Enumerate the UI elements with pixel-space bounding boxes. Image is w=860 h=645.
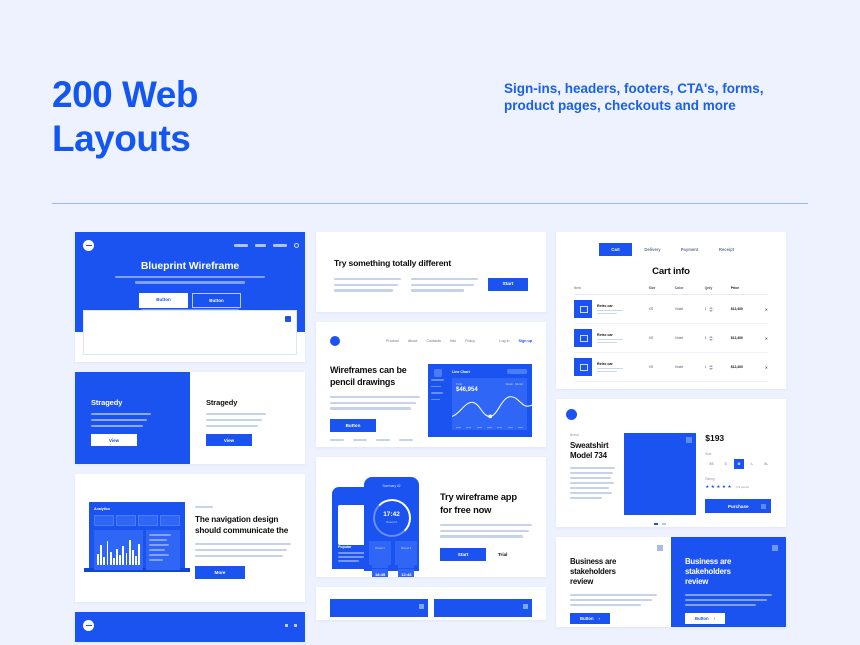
column-item: Item (574, 286, 649, 290)
cell-price: $12,400 (731, 336, 757, 340)
product-desc (597, 339, 623, 344)
product-name: Retro car (597, 333, 623, 337)
wireframes-title: Wireframes can be pencil drawings (330, 364, 420, 388)
qty-value: 1 (705, 307, 707, 311)
login-link[interactable]: Log in (499, 339, 509, 343)
chart-axis (456, 427, 523, 429)
phone-stat-card-1: Round 1 18:45 (369, 541, 391, 565)
dashboard-topbar: Line Chart (452, 369, 527, 374)
stakeholders-panel-blue: Business are stakeholders review Button› (671, 537, 786, 627)
logo-icon (83, 240, 94, 251)
navbar-auth[interactable]: Log in Sign up (499, 339, 532, 343)
stakeholders-left-title: Business are stakeholders review (570, 557, 657, 587)
app-trial-button[interactable]: Trial (498, 552, 507, 557)
page-title-line2: Layouts (52, 117, 198, 161)
chevron-up-icon (709, 365, 713, 367)
size-option-s[interactable]: S (721, 459, 731, 469)
table-row[interactable]: Retro car XS Violet 1 $12,400 ✕ (574, 295, 768, 324)
quote-icon (772, 545, 778, 551)
carousel-dot-active[interactable] (654, 523, 658, 525)
try-start-button[interactable]: Start (488, 278, 528, 291)
product-thumbnail (574, 329, 592, 347)
stragedy-left-button[interactable]: View (91, 434, 137, 446)
product-purchase-panel: $193 Size XS S M L XL Rating ★★★ ★★ (705, 433, 772, 515)
panel-badge-icon (285, 316, 291, 322)
cart-item-cell: Retro car (574, 358, 649, 376)
phone-timer: 17:42 (364, 511, 419, 518)
stakeholders-right-text (685, 594, 772, 606)
cell-color: Violet (675, 307, 705, 311)
phone-stat-card-2: Round 2 12:43 (395, 541, 417, 565)
cell-size: XS (649, 365, 675, 369)
preview-card-cart-info[interactable]: Cart Delivery Payment Receipt Cart info … (556, 232, 786, 389)
stragedy-right-title: Stragedy (206, 398, 289, 407)
hero-secondary-button[interactable]: Button (192, 293, 241, 308)
qty-value: 1 (705, 365, 707, 369)
phone-mockups: Popular Summary #2 17:42 Round 3 Round 1 (330, 471, 430, 571)
preview-card-wireframes-pencil[interactable]: Product About Contacts Info Policy Log i… (316, 322, 546, 447)
product-description: Brand Sweatshirt Model 734 (570, 433, 615, 515)
nav-item-product[interactable]: Product (386, 339, 399, 343)
chart-amount: $46,954 (456, 387, 523, 393)
product-body: Brand Sweatshirt Model 734 (570, 433, 772, 515)
size-option-xs[interactable]: XS (705, 459, 717, 469)
chart-panel: Total $46,954 Week · Month (452, 378, 527, 430)
poster-page: 200 Web Layouts Sign-ins, headers, foote… (0, 0, 860, 645)
avatar (434, 369, 442, 377)
menu-dot-icon[interactable] (285, 624, 288, 627)
qty-value: 1 (705, 336, 707, 340)
wireframes-footer-links[interactable] (330, 439, 413, 441)
footer-link-instagram[interactable] (330, 439, 344, 441)
navbar-links[interactable]: Product About Contacts Info Policy (386, 339, 475, 343)
chevron-down-icon (709, 368, 713, 370)
stat-tile (94, 515, 114, 526)
size-option-m[interactable]: M (734, 459, 745, 469)
preview-card-wireframe-app[interactable]: Popular Summary #2 17:42 Round 3 Round 1 (316, 457, 546, 577)
page-title: 200 Web Layouts (52, 73, 198, 161)
wireframes-button[interactable]: Button (330, 419, 376, 432)
dashboard-screenshot: Line Chart Total $46,954 Week · Month (428, 364, 532, 437)
stat-tile (116, 515, 136, 526)
product-desc (597, 368, 623, 373)
try-different-title: Try something totally different (334, 258, 528, 268)
header-actions[interactable] (285, 624, 297, 627)
column-qnty: Qnty (705, 286, 731, 290)
cell-size: XS (649, 307, 675, 311)
product-brand: Brand (570, 433, 615, 437)
app-copy: Try wireframe app for free now Start Tri… (440, 471, 532, 577)
product-title: Sweatshirt Model 734 (570, 441, 615, 461)
hero-headline: Blueprint Wireframe (75, 260, 305, 272)
table-row[interactable]: Retro car XS Violet 1 $12,400 ✕ (574, 353, 768, 382)
line-chart-svg (452, 394, 546, 422)
stat-label: Round 1 (372, 544, 388, 568)
cell-price: $12,400 (731, 365, 757, 369)
star-icon: ★ (727, 484, 731, 490)
product-price: $193 (705, 433, 772, 443)
stragedy-left-title: Stragedy (91, 398, 174, 407)
product-thumbnail (574, 300, 592, 318)
dashboard-side-list (146, 530, 180, 570)
hero-nav[interactable] (234, 243, 299, 248)
product-name: Retro car (597, 304, 623, 308)
star-icon: ★ (722, 484, 726, 490)
page-title-line1: 200 Web (52, 73, 198, 117)
menu-dot-icon[interactable] (294, 624, 297, 627)
nav-item-about[interactable]: About (408, 339, 418, 343)
nav-item-contacts[interactable]: Contacts (426, 339, 441, 343)
app-paragraph (440, 524, 532, 538)
logo-icon (83, 620, 94, 631)
cart-table-header: Item Size Color Qnty Price (574, 286, 768, 295)
app-start-button[interactable]: Start (440, 548, 486, 561)
gallery-column-1: Blueprint Wireframe Button Button (75, 232, 305, 645)
stepper-arrows[interactable] (709, 336, 713, 341)
header-divider (52, 203, 808, 204)
chart-range-label: Week · Month (506, 382, 523, 386)
stragedy-panel-white: Stragedy View (190, 372, 305, 464)
preview-card-try-different[interactable]: Try something totally different Start (316, 232, 546, 312)
laptop-screen: Analytics (89, 502, 185, 568)
stakeholders-right-button[interactable]: Button› (685, 613, 725, 624)
stakeholders-panel-white: Business are stakeholders review Button› (556, 537, 671, 627)
size-selector[interactable]: XS S M L XL (705, 459, 772, 469)
size-label: Size (705, 452, 772, 456)
bar-chart-bars (97, 537, 140, 565)
product-name: Retro car (597, 362, 623, 366)
stakeholders-left-text (570, 594, 657, 606)
nav-item-product[interactable] (234, 244, 248, 247)
purchase-button[interactable]: Purchase (705, 499, 771, 513)
dashboard-label: Analytics (94, 507, 180, 511)
dashboard-sidebar (428, 364, 447, 437)
try-different-body: Start (334, 278, 528, 295)
phone-front: Summary #2 17:42 Round 3 Round 1 18:45 R (364, 477, 419, 571)
star-icon: ★ (705, 484, 709, 490)
carousel-dots[interactable] (624, 523, 696, 525)
size-option-xl[interactable]: XL (760, 459, 772, 469)
nav-item-about[interactable] (255, 244, 266, 247)
progress-ring (373, 499, 411, 537)
wireframes-navbar[interactable]: Product About Contacts Info Policy Log i… (330, 336, 532, 346)
dashboard-stat-row (94, 515, 180, 526)
logo-icon (330, 336, 340, 346)
arrow-icon: › (599, 616, 600, 621)
navigation-title: The navigation design should communicate… (195, 514, 291, 536)
rating-stars: ★★★ ★★ 4.9 points (705, 484, 772, 490)
preview-card-blueprint-hero[interactable]: Blueprint Wireframe Button Button (75, 232, 305, 362)
page-subtitle-line2: product pages, checkouts and more (504, 97, 814, 114)
stat-tile (138, 515, 158, 526)
phone-stat-cards: Round 1 18:45 Round 2 12:43 (369, 541, 414, 565)
product-thumbnail (574, 358, 592, 376)
dashboard-body (94, 530, 180, 570)
cart-item-cell: Retro car (574, 300, 649, 318)
tab-payment[interactable]: Payment (673, 243, 706, 256)
nav-item-info[interactable]: Info (450, 339, 456, 343)
column-color: Color (675, 286, 705, 290)
badge-icon (419, 604, 424, 609)
dashboard-action-pill[interactable] (507, 369, 527, 374)
purchase-label: Purchase (728, 504, 749, 509)
chevron-up-icon (709, 307, 713, 309)
product-desc (597, 310, 623, 315)
try-paragraph-right (411, 278, 478, 295)
star-icon: ★ (716, 484, 720, 490)
remove-row-button[interactable]: ✕ (757, 336, 768, 341)
quote-icon (657, 545, 663, 551)
search-icon[interactable] (294, 243, 299, 248)
hero-primary-button[interactable]: Button (139, 293, 188, 308)
remove-row-button[interactable]: ✕ (757, 307, 768, 312)
nav-item-contacts[interactable] (273, 244, 287, 247)
chevron-up-icon (709, 336, 713, 338)
tab-receipt[interactable]: Receipt (710, 243, 743, 256)
layout-gallery-grid: Blueprint Wireframe Button Button (0, 232, 860, 645)
quantity-stepper[interactable]: 1 (705, 336, 731, 341)
try-paragraph-left (334, 278, 401, 295)
app-title: Try wireframe app for free now (440, 491, 532, 516)
chevron-down-icon (709, 339, 713, 341)
stepper-arrows[interactable] (709, 307, 713, 312)
gallery-column-3: Cart Delivery Payment Receipt Cart info … (556, 232, 786, 637)
stragedy-left-text (91, 413, 174, 427)
rating-count: 4.9 points (736, 485, 749, 489)
star-icon: ★ (711, 484, 715, 490)
wireframes-paragraph (330, 396, 420, 410)
chart-title: Line Chart (452, 370, 470, 374)
remove-row-button[interactable]: ✕ (757, 365, 768, 370)
bar-chart (94, 530, 143, 570)
preview-card-partial-blocks[interactable] (316, 587, 546, 620)
navigation-more-button[interactable]: More (195, 566, 245, 579)
footer-link-twitter[interactable] (376, 439, 390, 441)
cart-icon (761, 504, 766, 509)
stragedy-panel-blue: Stragedy View (75, 372, 190, 464)
app-button-group[interactable]: Start Trial (440, 548, 532, 561)
content-block-left[interactable] (330, 599, 428, 617)
stragedy-right-button[interactable]: View (206, 434, 252, 446)
preview-card-stragedy[interactable]: Stragedy View Stragedy View (75, 372, 305, 464)
preview-card-partial-header[interactable] (75, 612, 305, 642)
cart-title: Cart info (574, 266, 768, 277)
hero-button-group[interactable]: Button Button (139, 293, 241, 308)
stat-value: 18:45 (372, 569, 388, 577)
preview-card-product-detail[interactable]: Brand Sweatshirt Model 734 (556, 399, 786, 527)
navigation-paragraph (195, 543, 291, 557)
hero-content-panel (83, 310, 297, 355)
preview-card-navigation-design[interactable]: Analytics (75, 474, 305, 602)
cell-color: Violet (675, 365, 705, 369)
laptop-mockup: Analytics (89, 502, 185, 572)
table-row[interactable]: Retro car XS Violet 1 $12,400 ✕ (574, 324, 768, 353)
phone-round-label: Round 3 (364, 520, 419, 524)
cart-step-tabs[interactable]: Cart Delivery Payment Receipt (574, 243, 768, 256)
content-block-right[interactable] (434, 599, 532, 617)
page-subtitle: Sign-ins, headers, footers, CTA's, forms… (504, 80, 814, 114)
footer-link-linkedin[interactable] (399, 439, 413, 441)
dashboard-main: Line Chart Total $46,954 Week · Month (447, 364, 532, 437)
tab-cart[interactable]: Cart (599, 243, 632, 256)
cell-color: Violet (675, 336, 705, 340)
stat-label: Round 2 (398, 544, 414, 568)
cart-item-cell: Retro car (574, 329, 649, 347)
size-option-l[interactable]: L (747, 459, 757, 469)
quantity-stepper[interactable]: 1 (705, 365, 731, 370)
navigation-copy: The navigation design should communicate… (195, 498, 291, 579)
tab-delivery[interactable]: Delivery (636, 243, 669, 256)
badge-icon (523, 604, 528, 609)
stakeholders-left-button[interactable]: Button› (570, 613, 610, 624)
phone-back-title: Popular (338, 545, 351, 549)
phone-status-label: Summary #2 (364, 484, 419, 488)
wireframes-copy: Wireframes can be pencil drawings Button (330, 364, 420, 437)
cell-price: $12,400 (731, 307, 757, 311)
nav-item-policy[interactable]: Policy (465, 339, 475, 343)
kicker-bar (195, 506, 213, 508)
rating-label: Rating (705, 477, 772, 481)
chevron-down-icon (709, 310, 713, 312)
stragedy-right-text (206, 413, 289, 427)
cell-size: XS (649, 336, 675, 340)
stepper-arrows[interactable] (709, 365, 713, 370)
logo-icon (566, 409, 577, 420)
stakeholders-right-title: Business are stakeholders review (685, 557, 772, 587)
stat-tile (160, 515, 180, 526)
carousel-dot[interactable] (662, 523, 666, 525)
column-size: Size (649, 286, 675, 290)
gallery-column-2: Try something totally different Start Pr… (316, 232, 546, 630)
product-image[interactable] (624, 433, 696, 515)
wireframes-body: Wireframes can be pencil drawings Button (330, 364, 532, 437)
page-subtitle-line1: Sign-ins, headers, footers, CTA's, forms… (504, 80, 814, 97)
quantity-stepper[interactable]: 1 (705, 307, 731, 312)
signup-link[interactable]: Sign up (518, 339, 532, 343)
stat-value: 12:43 (398, 569, 414, 577)
arrow-icon: › (714, 616, 715, 621)
hero-paragraph (115, 276, 265, 287)
preview-card-stakeholders[interactable]: Business are stakeholders review Button›… (556, 537, 786, 627)
bookmark-icon[interactable] (686, 437, 692, 443)
column-price: Price (731, 286, 757, 290)
footer-link-facebook[interactable] (353, 439, 367, 441)
product-paragraph (570, 467, 615, 499)
